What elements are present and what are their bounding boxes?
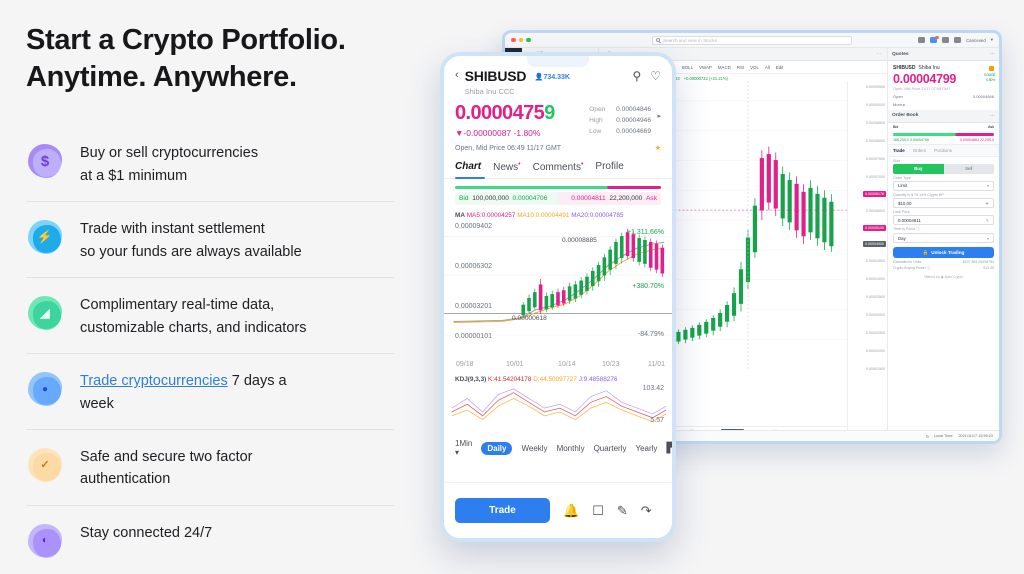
tab-comments[interactable]: Comments•: [533, 161, 584, 173]
connect-icon: ◐: [26, 522, 64, 560]
phone-x-tick: 10/01: [506, 361, 524, 368]
list-item: $ Buy or sell cryptocurrencies at a $1 m…: [26, 126, 394, 202]
list-item: ✓ Safe and secure two factor authenticat…: [26, 430, 394, 506]
phone-price-chart[interactable]: 0.00009402 0.00006302 0.00003201 0.00000…: [444, 221, 672, 373]
product-mockups: Search and view in Stocks Cancexed ▾ ♥: [430, 0, 1024, 574]
phone-tabs: Chart News• Comments• Profile: [444, 152, 672, 173]
y-tick: 0.00003000: [866, 313, 885, 317]
y-tick: 0.00002500: [866, 331, 885, 335]
ask-size: 22,200.0: [980, 138, 994, 142]
headline-line-1: Start a Crypto Portfolio.: [26, 24, 346, 56]
kdj-j: J:9.48588276: [579, 376, 618, 383]
side-label: Side: [893, 159, 994, 163]
alert-bell-icon[interactable]: 🔔: [563, 503, 579, 519]
phone-footer: Trade 🔔 ☐ ✎ ↷: [444, 482, 672, 538]
local-time-value: 2021/11/17 15:59:23: [958, 434, 993, 438]
phone-price: 0.00004759: [455, 102, 555, 125]
quotes-header: Quotes ⋯: [888, 48, 999, 61]
order-type-label: Order Type: [893, 176, 994, 180]
offered-by-label: Offered by: [924, 275, 940, 279]
indicator-macd[interactable]: MACD: [718, 65, 731, 70]
unlock-trading-button[interactable]: 🔒 Unlock Trading: [893, 247, 994, 258]
order-type-value: Limit: [898, 183, 907, 188]
feature-line-1: Complimentary real-time data,: [80, 297, 274, 313]
check-shield-icon: ✓: [26, 446, 64, 484]
bid-label: Bid: [459, 195, 469, 202]
chevron-down-icon: ▾: [987, 183, 989, 188]
chevron-down-icon[interactable]: ▾: [991, 37, 993, 43]
ma-label: MA: [455, 212, 465, 219]
phone-tabs-underline: [444, 178, 672, 179]
price-axis: 0.00009500 0.00009000 0.00008500 0.00008…: [847, 81, 887, 436]
timeframe-1min[interactable]: 1Min ▾: [455, 439, 472, 457]
y-tick: 0.00008000: [866, 139, 885, 143]
tif-value: Day: [898, 236, 906, 241]
phone-change: ▼-0.00000087 -1.80%: [455, 128, 555, 138]
buy-sell-toggle[interactable]: Buy Sell: [893, 164, 994, 174]
unlock-trading-label: Unlock Trading: [931, 250, 964, 255]
feature-line-2: so your funds are always available: [80, 244, 302, 260]
trade-cryptocurrencies-link[interactable]: Trade cryptocurrencies: [80, 373, 228, 389]
kdj-high-label: 103.42: [643, 385, 664, 392]
ohlc-expand-icon[interactable]: ▸: [657, 111, 661, 123]
timeframe-quarterly[interactable]: Quarterly: [594, 444, 627, 453]
kdj-low-label: 5.57: [650, 417, 664, 424]
ohlc-high-label: High: [589, 115, 609, 126]
feature-line-2: at a $1 minimum: [80, 168, 187, 184]
bid-ask-depth-bar: [455, 186, 661, 189]
page-title: Start a Crypto Portfolio. Anytime. Anywh…: [26, 22, 394, 96]
follower-count: 👤734.33K: [535, 74, 570, 81]
chart-edit-button[interactable]: Edit: [776, 65, 784, 70]
close-icon[interactable]: [511, 38, 516, 43]
dollar-sign-icon: $: [26, 142, 64, 180]
ask-size: 22,200,000: [609, 195, 642, 202]
phone-kdj-legend: KDJ(9,3,3) K:41.54204178 D:44.50097727 J…: [444, 373, 672, 383]
alert-badge-icon[interactable]: [989, 66, 994, 71]
droplets-icon: ●: [26, 370, 64, 408]
y-tick: 0.00001500: [866, 367, 885, 371]
marketing-column: Start a Crypto Portfolio. Anytime. Anywh…: [0, 0, 420, 574]
quote-change-abs: 0.00000: [984, 73, 995, 77]
phone-symbol: SHIBUSD: [465, 68, 527, 84]
feature-line-1: Stay connected 24/7: [80, 525, 212, 541]
minimize-icon[interactable]: [519, 38, 524, 43]
trade-tabs: Trade Orders Positions: [888, 144, 999, 157]
limit-price-input[interactable]: 0.00004811 ✎: [893, 215, 994, 225]
mobile-app-mockup: ‹ SHIBUSD 👤734.33K Shiba Inu CCC ⚲ ♡ 0.0…: [440, 52, 676, 542]
feature-text: Complimentary real-time data, customizab…: [80, 293, 306, 339]
feature-text: Trade cryptocurrencies 7 days a week: [80, 369, 287, 415]
quote-price: 0.00004799 0.00000 0.50%: [888, 71, 999, 86]
phone-y-label: 0.00000101: [455, 333, 492, 340]
timeframe-daily[interactable]: Daily: [481, 442, 512, 455]
feature-text: Stay connected 24/7: [80, 521, 212, 544]
limit-price-value: 0.00004811: [898, 218, 921, 223]
back-chevron-icon[interactable]: ‹: [455, 70, 459, 81]
tab-orders[interactable]: Orders: [913, 148, 926, 153]
ohlc-open-value: 0.00004846: [616, 104, 651, 115]
tab-positions[interactable]: Positions: [934, 148, 952, 153]
y-tick: 0.00007000: [866, 175, 885, 179]
buying-power-row: Crypto Buying Power ⓘ $13.35: [888, 264, 999, 271]
phone-ohlc: Open0.00004846 High0.00004946 Low0.00004…: [589, 102, 661, 138]
bid-size: 166,200.0: [893, 138, 909, 142]
order-type-field: Order Type Limit ▾: [888, 174, 999, 191]
window-titlebar: Search and view in Stocks Cancexed ▾: [505, 33, 999, 48]
feature-text: Buy or sell cryptocurrencies at a $1 min…: [80, 141, 258, 187]
tab-trade[interactable]: Trade: [893, 148, 905, 153]
mail-icon[interactable]: [954, 37, 961, 43]
feature-line-1: Trade with instant settlement: [80, 221, 265, 237]
feature-list: $ Buy or sell cryptocurrencies at a $1 m…: [26, 126, 394, 574]
limit-price-label: Limit Price: [893, 210, 994, 214]
phone-callout: 0.00008885: [562, 237, 597, 244]
star-icon[interactable]: ★: [655, 144, 661, 152]
favorite-heart-icon[interactable]: ♡: [650, 69, 661, 83]
ohlc-open-label: Open: [589, 104, 609, 115]
lightning-bolt-icon: ⚡: [26, 218, 64, 256]
quote-symbol-row: SHIBUSD Shiba Inu ⋯: [888, 61, 999, 71]
titlebar-tools: Cancexed ▾: [918, 37, 993, 43]
phone-kdj-chart[interactable]: 103.42 5.57: [444, 383, 672, 431]
phone-gmt-text: Open, Mid Price 06:49 11/17 GMT: [455, 145, 561, 152]
y-tick: 0.00007500: [866, 157, 885, 161]
search-placeholder: Search and view in Stocks: [663, 38, 717, 43]
phone-y-label: 0.00006302: [455, 263, 492, 270]
offered-by-brand: Apex Crypto: [944, 275, 963, 279]
y-tag-current: 0.00004900: [863, 241, 886, 247]
phone-pct-top: +1,311.66%: [627, 229, 664, 236]
phone-quote-block: 0.00004759 ▼-0.00000087 -1.80% Open0.000…: [444, 96, 672, 138]
timeframe-monthly[interactable]: Monthly: [557, 444, 585, 453]
quantity-value: $10.00: [898, 201, 911, 206]
bid-ask-values: Bid 100,000,000 0.00004706 0.00004811 22…: [455, 192, 661, 205]
indicator-boll[interactable]: BOLL: [682, 65, 693, 70]
ma10-value: MA10:0.00004491: [517, 212, 569, 219]
quantity-label: Quantity in $ 75.19% Crypto BP: [893, 193, 994, 197]
phone-gmt-note: Open, Mid Price 06:49 11/17 GMT ★: [444, 138, 672, 152]
tab-news[interactable]: News•: [493, 161, 520, 173]
y-tick: 0.00009000: [866, 103, 885, 107]
quote-price-value: 0.00004799: [893, 72, 956, 86]
indicator-vol[interactable]: VOL: [750, 65, 759, 70]
settings-gear-icon[interactable]: [942, 37, 949, 43]
panel-menu-icon[interactable]: ⋯: [990, 113, 995, 119]
phone-y-label: 0.00003201: [455, 303, 492, 310]
tab-chart[interactable]: Chart: [455, 161, 481, 173]
phone-date-axis: 09/18 10/01 10/14 10/23 11/01: [444, 361, 672, 373]
quotes-trade-panel: Quotes ⋯ SHIBUSD Shiba Inu ⋯ 0.00004799 …: [887, 48, 999, 444]
tab-profile[interactable]: Profile: [595, 161, 623, 173]
quantity-field: Quantity in $ 75.19% Crypto BP $10.00 ⎆: [888, 191, 999, 208]
y-tick: 0.00004500: [866, 259, 885, 263]
notifications-icon[interactable]: [930, 37, 937, 43]
buy-button[interactable]: Buy: [893, 164, 944, 174]
ohlc-high-value: 0.00004946: [616, 115, 651, 126]
ma20-value: MA20:0.00004785: [571, 212, 623, 219]
y-tick: 0.00009500: [866, 85, 885, 89]
y-tick: 0.00006000: [866, 209, 885, 213]
y-tag-highlight: 0.00005100: [863, 225, 886, 231]
quotes-title: Quotes: [892, 52, 909, 57]
kdj-d: D:44.50097727: [533, 376, 577, 383]
leaf-chart-icon: ◢: [26, 294, 64, 332]
quantity-input[interactable]: $10.00 ⎆: [893, 198, 994, 208]
refresh-icon[interactable]: ↻: [926, 434, 929, 439]
bid-price: 0.00004706: [513, 195, 548, 202]
feature-text: Safe and secure two factor authenticatio…: [80, 445, 253, 491]
phone-header-icons: ⚲ ♡: [632, 69, 661, 83]
quote-open-value: 0.00004846: [973, 94, 994, 99]
order-book-values: 166,200.0 0.00004706 0.00004863 22,200.0: [888, 136, 999, 144]
phone-pct-mid: +380.70%: [632, 283, 664, 290]
lock-icon: 🔒: [923, 250, 929, 256]
chevron-down-icon: ▾: [987, 236, 989, 241]
feature-line-2: authentication: [80, 471, 170, 487]
phone-y-label: 0.00009402: [455, 223, 492, 230]
quote-change-pct: 0.50%: [986, 78, 995, 82]
limit-price-field: Limit Price 0.00004811 ✎: [888, 208, 999, 225]
offered-by: Offered by ◉ Apex Crypto: [888, 271, 999, 279]
phone-mid-label: 0.00000618: [512, 315, 547, 322]
phone-x-tick: 10/23: [602, 361, 620, 368]
phone-notch: [527, 56, 589, 67]
list-item: ◢ Complimentary real-time data, customiz…: [26, 278, 394, 354]
order-book-title: Order Book: [892, 113, 918, 118]
feature-line-2: week: [80, 396, 114, 412]
y-tick: 0.00003500: [866, 295, 885, 299]
ma5-value: MA5:0.00004257: [467, 212, 516, 219]
feature-line-2: customizable charts, and indicators: [80, 320, 306, 336]
indicator-all-dropdown[interactable]: All: [765, 65, 770, 70]
feature-line-1: Buy or sell cryptocurrencies: [80, 145, 258, 161]
bid-size: 100,000,000: [472, 195, 509, 202]
quote-open-row: Open 0.00004846: [888, 92, 999, 100]
feature-text: Trade with instant settlement so your fu…: [80, 217, 302, 263]
kdj-svg: [444, 383, 672, 429]
y-tick: 0.00004000: [866, 277, 885, 281]
chart-type-icon[interactable]: ▛▜: [666, 443, 676, 454]
phone-x-tick: 09/18: [456, 361, 474, 368]
phone-timeframe-bar: 1Min ▾ Daily Weekly Monthly Quarterly Ye…: [444, 431, 672, 457]
quote-open-label: Open: [893, 94, 903, 99]
phone-ma-legend: MA MA5:0.00004257 MA10:0.00004491 MA20:0…: [444, 205, 672, 219]
search-input[interactable]: Search and view in Stocks: [652, 36, 852, 45]
edit-icon[interactable]: ✎: [617, 503, 628, 519]
drawing-tool-icon[interactable]: [918, 37, 925, 43]
phone-x-tick: 11/01: [648, 361, 665, 368]
side-field: Side Buy Sell: [888, 157, 999, 174]
timeframe-weekly[interactable]: Weekly: [521, 444, 547, 453]
phone-x-tick: 10/14: [558, 361, 576, 368]
phone-subtitle: Shiba Inu CCC: [465, 87, 570, 96]
ask-label: Ask: [988, 125, 994, 129]
page-root: Start a Crypto Portfolio. Anytime. Anywh…: [0, 0, 1024, 574]
indicator-vwap[interactable]: VWAP: [699, 65, 712, 70]
quote-more-link[interactable]: More ▸: [888, 100, 999, 110]
panel-menu-icon[interactable]: ⋯: [876, 52, 881, 57]
local-time-label: Local Time:: [934, 434, 953, 438]
phone-candlestick-svg: [444, 221, 672, 368]
search-icon[interactable]: ⚲: [632, 69, 641, 83]
edit-pencil-icon[interactable]: ✎: [986, 218, 989, 223]
ask-price: 0.00004863: [960, 138, 979, 142]
ask-price: 0.00004811: [571, 195, 605, 202]
trade-button[interactable]: Trade: [455, 498, 550, 523]
timeframe-yearly[interactable]: Yearly: [635, 444, 657, 453]
feature-line-1: Safe and secure two factor: [80, 449, 253, 465]
tif-select[interactable]: Day ▾: [893, 233, 994, 243]
order-book-header: Order Book ⋯: [888, 110, 999, 123]
phone-symbol-block: SHIBUSD 👤734.33K Shiba Inu CCC: [465, 68, 570, 96]
indicator-rsi[interactable]: RSI: [737, 65, 744, 70]
share-icon[interactable]: ↷: [641, 503, 652, 519]
bid-label: Bid: [893, 125, 898, 129]
quote-change: 0.00000 0.50%: [984, 73, 995, 83]
phone-price-block: 0.00004759 ▼-0.00000087 -1.80%: [455, 102, 555, 138]
bid-price: 0.00004706: [910, 138, 929, 142]
kdj-label: KDJ(9,3,3): [455, 376, 486, 383]
y-tick: 0.00002000: [866, 349, 885, 353]
tif-field: Time-in-Force ⓘ Day ▾: [888, 225, 999, 243]
phone-pct-bot: -84.79%: [638, 331, 664, 338]
tif-label: Time-in-Force ⓘ: [893, 227, 994, 232]
ask-label: Ask: [646, 195, 657, 202]
panel-menu-icon[interactable]: ⋯: [990, 51, 995, 57]
order-type-select[interactable]: Limit ▾: [893, 181, 994, 191]
currency-toggle-icon[interactable]: ⎆: [986, 201, 989, 206]
ohlc-low-label: Low: [589, 126, 609, 137]
search-icon: [656, 38, 660, 42]
list-item: ◐ Stay connected 24/7: [26, 506, 394, 574]
headline-line-2: Anytime. Anywhere.: [26, 59, 394, 96]
y-tick: 0.00008500: [866, 121, 885, 125]
maximize-icon[interactable]: [526, 38, 531, 43]
note-icon[interactable]: ☐: [592, 503, 604, 519]
ohlc-low-value: 0.00004669: [616, 126, 651, 137]
kdj-k: K:41.54204178: [488, 376, 531, 383]
account-label[interactable]: Cancexed: [966, 38, 986, 43]
list-item: ● Trade cryptocurrencies 7 days a week: [26, 354, 394, 430]
feature-line-1-after: 7 days a: [228, 373, 287, 389]
y-tag-highlight: 0.00006178: [863, 191, 886, 197]
phone-bid-ask: Bid 100,000,000 0.00004706 0.00004811 22…: [455, 186, 661, 205]
order-book-labels: Bid Ask: [888, 123, 999, 131]
list-item: ⚡ Trade with instant settlement so your …: [26, 202, 394, 278]
sell-button[interactable]: Sell: [944, 164, 995, 174]
